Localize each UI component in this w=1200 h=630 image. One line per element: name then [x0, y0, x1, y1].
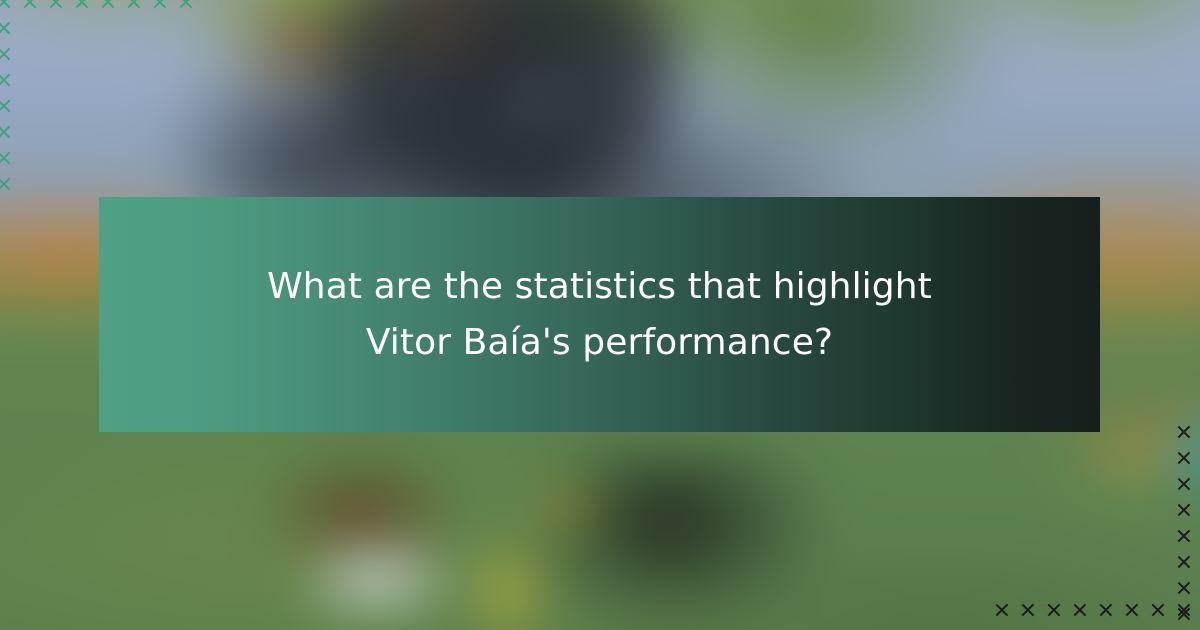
- decoration-top-left-column: [0, 20, 22, 202]
- x-mark-icon: [74, 0, 90, 10]
- decoration-top-left-row: [0, 0, 204, 20]
- background-white-boot: [306, 546, 446, 610]
- x-mark-icon: [1072, 602, 1088, 618]
- x-mark-icon: [0, 176, 12, 192]
- x-mark-icon: [152, 0, 168, 10]
- x-mark-icon: [0, 20, 12, 36]
- x-mark-icon: [0, 0, 12, 10]
- x-mark-icon: [1176, 528, 1192, 544]
- x-mark-icon: [100, 0, 116, 10]
- x-mark-icon: [1176, 476, 1192, 492]
- x-mark-icon: [1124, 602, 1140, 618]
- x-mark-icon: [0, 72, 12, 88]
- x-mark-icon: [1176, 580, 1192, 596]
- x-mark-icon: [1176, 450, 1192, 466]
- decoration-bottom-right-column: [1176, 424, 1200, 630]
- x-mark-icon: [1176, 424, 1192, 440]
- x-mark-icon: [1150, 602, 1166, 618]
- x-mark-icon: [1176, 502, 1192, 518]
- x-mark-icon: [126, 0, 142, 10]
- x-mark-icon: [1176, 554, 1192, 570]
- x-mark-icon: [178, 0, 194, 10]
- x-mark-icon: [22, 0, 38, 10]
- x-mark-icon: [48, 0, 64, 10]
- x-mark-icon: [994, 602, 1010, 618]
- x-mark-icon: [0, 150, 12, 166]
- background-player-right-face: [376, 0, 502, 69]
- x-mark-icon: [0, 46, 12, 62]
- x-mark-icon: [0, 124, 12, 140]
- question-card: What are the statistics that highlight V…: [0, 0, 1200, 630]
- background-yellow-right: [1076, 442, 1188, 490]
- question-banner: What are the statistics that highlight V…: [99, 197, 1100, 432]
- question-text: What are the statistics that highlight V…: [220, 259, 980, 371]
- x-mark-icon: [1098, 602, 1114, 618]
- background-kit-badge: [502, 77, 558, 117]
- background-yellow-sock: [474, 538, 544, 630]
- x-mark-icon: [0, 98, 12, 114]
- decoration-bottom-right-row: [994, 602, 1200, 628]
- x-mark-icon: [1176, 602, 1192, 618]
- background-yellow-sock-2: [530, 474, 600, 538]
- x-mark-icon: [1020, 602, 1036, 618]
- x-mark-icon: [1046, 602, 1062, 618]
